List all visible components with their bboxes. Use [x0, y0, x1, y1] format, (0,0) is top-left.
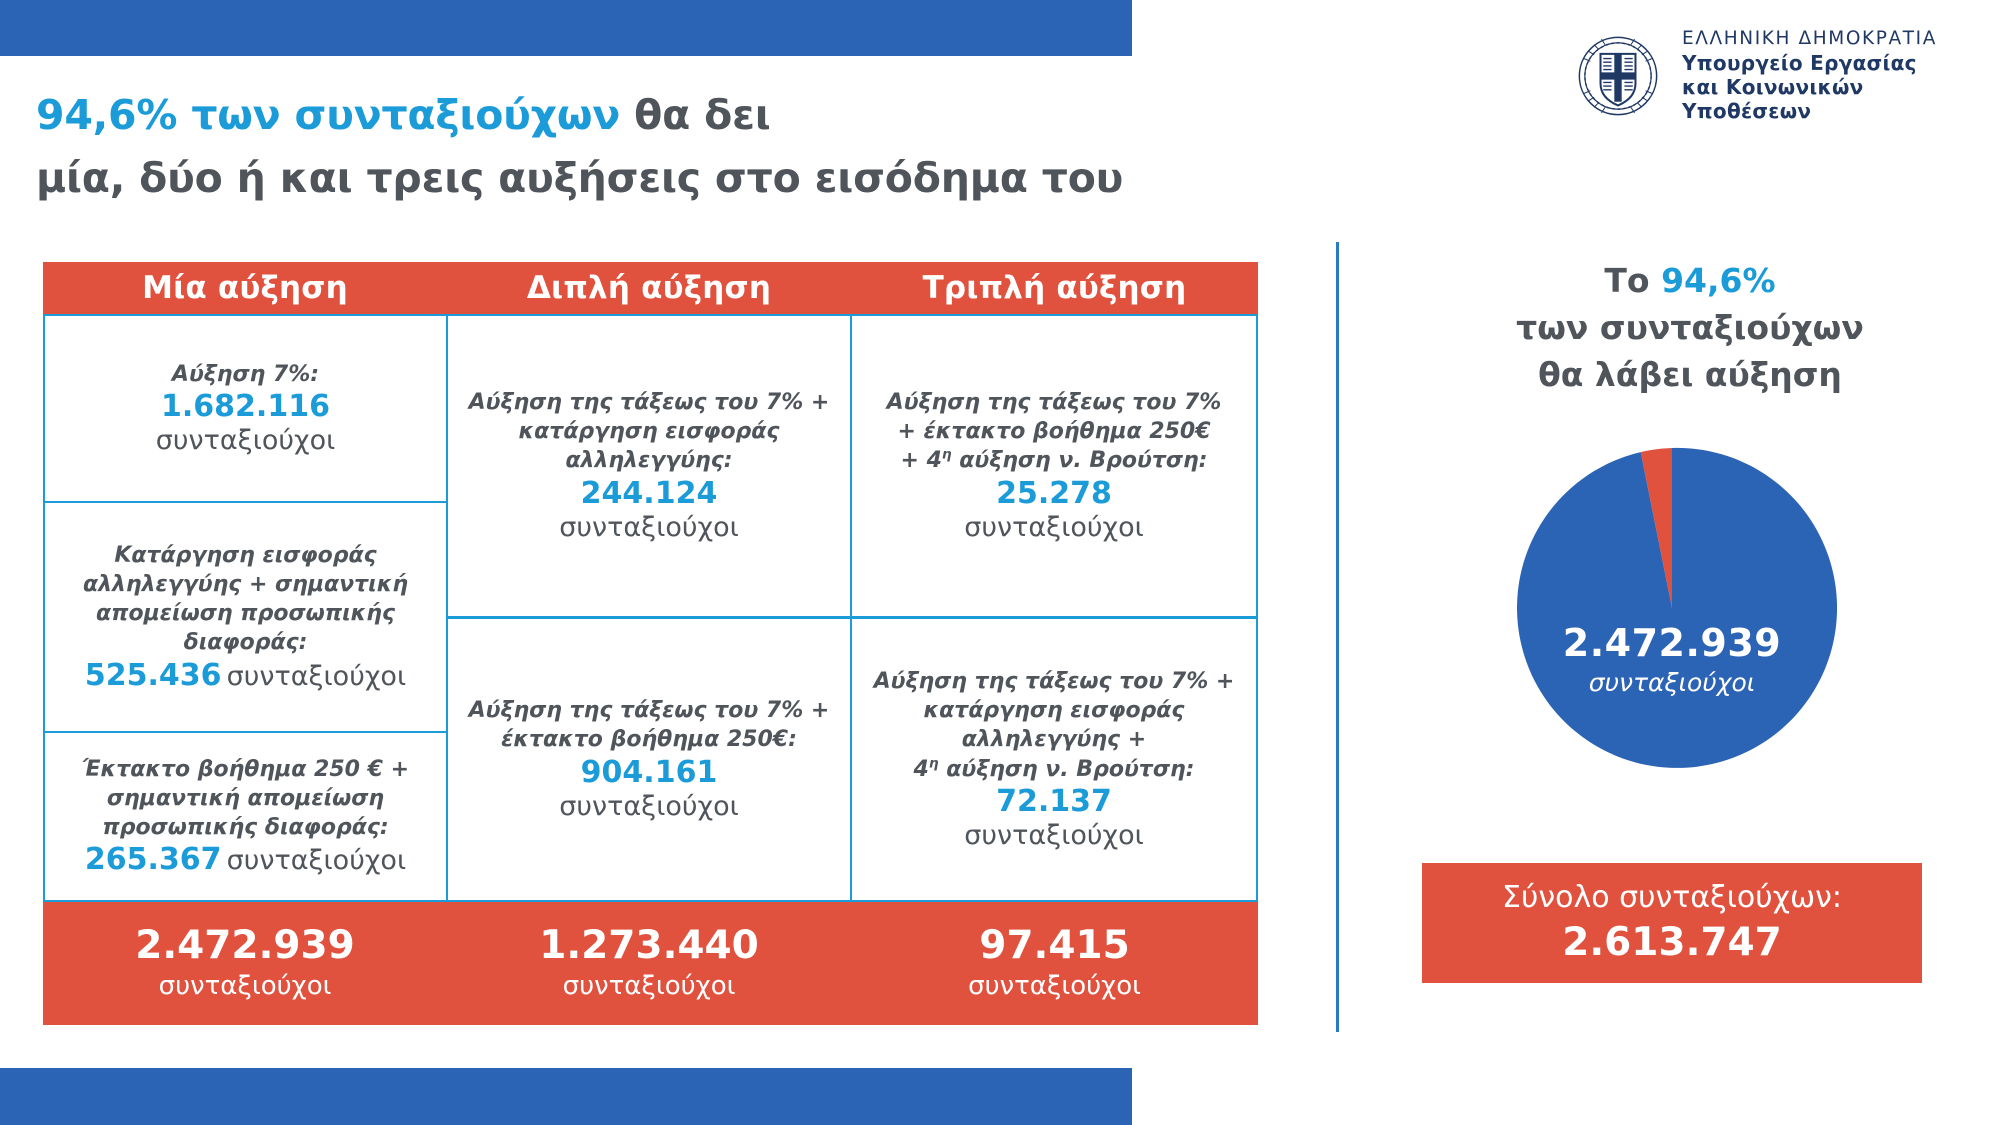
cell-value: 1.682.116 [161, 389, 330, 425]
cell-value: 25.278 [996, 476, 1112, 512]
table-footer-row: 2.472.939 συνταξιούχοι 1.273.440 συνταξι… [43, 902, 1258, 1025]
table-cell: Αύξηση 7%: 1.682.116 συνταξιούχοι [45, 316, 446, 501]
cell-description: Έκτακτο βοήθημα 250 € + σημαντική απομεί… [63, 755, 428, 843]
table-footer-cell: 2.472.939 συνταξιούχοι [43, 902, 447, 1025]
table-body: Αύξηση 7%: 1.682.116 συνταξιούχοι Κατάργ… [43, 314, 1258, 902]
vertical-divider [1336, 242, 1339, 1032]
greek-coat-of-arms-icon [1572, 30, 1664, 122]
total-value: 2.613.747 [1562, 920, 1782, 967]
table-footer-cell: 97.415 συνταξιούχοι [851, 902, 1258, 1025]
headline-rest: θα δει [620, 91, 770, 139]
cell-value: 72.137 [996, 784, 1112, 820]
ministry-logo: ΕΛΛΗΝΙΚΗ ΔΗΜΟΚΡΑΤΙΑ Υπουργείο Εργασίας κ… [1572, 28, 2000, 124]
cell-unit: συνταξιούχοι [964, 820, 1143, 852]
table-column-single: Αύξηση 7%: 1.682.116 συνταξιούχοι Κατάργ… [43, 314, 447, 902]
cell-value: 265.367 [85, 842, 222, 877]
logo-line-ministry-2: και Κοινωνικών Υποθέσεων [1682, 75, 1864, 123]
table-cell: Αύξηση της τάξεως του 7% + έκτακτο βοήθη… [852, 316, 1256, 616]
table-header-double: Διπλή αύξηση [447, 262, 851, 314]
cell-value: 904.161 [581, 755, 718, 791]
right-title-line-2: των συνταξιούχων [1516, 308, 1864, 347]
footer-unit: συνταξιούχοι [968, 971, 1141, 1002]
total-pensioners-box: Σύνολο συνταξιούχων: 2.613.747 [1422, 863, 1922, 983]
ordinal-suffix: η [929, 755, 939, 771]
footer-unit: συνταξιούχοι [563, 971, 736, 1002]
footer-value: 1.273.440 [539, 924, 759, 969]
cell-description: Αύξηση της τάξεως του 7% + κατάργηση εισ… [466, 388, 832, 476]
decorative-bar-top [0, 0, 1132, 56]
total-label: Σύνολο συνταξιούχων: [1502, 880, 1842, 916]
table-column-triple: Αύξηση της τάξεως του 7% + έκτακτο βοήθη… [851, 314, 1258, 902]
table-cell: Αύξηση της τάξεως του 7% + έκτακτο βοήθη… [448, 616, 850, 900]
table-column-double: Αύξηση της τάξεως του 7% + κατάργηση εισ… [447, 314, 851, 902]
cell-description: Κατάργηση εισφοράς αλληλεγγύης + σημαντι… [63, 541, 428, 658]
logo-line-republic: ΕΛΛΗΝΙΚΗ ΔΗΜΟΚΡΑΤΙΑ [1682, 28, 1937, 49]
cell-value-line: 265.367 συνταξιούχοι [85, 842, 406, 878]
table-cell: Αύξηση της τάξεως του 7% + κατάργηση εισ… [448, 316, 850, 616]
right-panel-title: Το 94,6% των συνταξιούχων θα λάβει αύξησ… [1380, 258, 2000, 399]
table-header-row: Μία αύξηση Διπλή αύξηση Τριπλή αύξηση [43, 262, 1258, 314]
right-title-percent: 94,6% [1661, 261, 1776, 300]
ordinal-suffix: η [942, 447, 952, 463]
cell-value-line: 525.436 συνταξιούχοι [85, 658, 406, 694]
cell-description-line-1: Αύξηση της τάξεως του 7% [887, 390, 1222, 415]
table-header-single: Μία αύξηση [43, 262, 447, 314]
decorative-bar-bottom [0, 1068, 1132, 1125]
cell-unit: συνταξιούχοι [559, 512, 738, 544]
cell-unit: συνταξιούχοι [227, 661, 406, 692]
cell-description-line-3-post: αύξηση ν. Βρούτση: [939, 757, 1195, 782]
cell-value: 244.124 [581, 476, 718, 512]
headline-highlight: 94,6% των συνταξιούχων [36, 91, 620, 139]
cell-unit: συνταξιούχοι [227, 845, 406, 876]
right-title-pre: Το [1604, 261, 1661, 300]
cell-description-line-3-pre: + 4 [901, 448, 942, 473]
cell-description-line-2: + έκτακτο βοήθημα 250€ [897, 419, 1210, 444]
cell-description: Αύξηση της τάξεως του 7% + έκτακτο βοήθη… [887, 388, 1222, 476]
increases-table: Μία αύξηση Διπλή αύξηση Τριπλή αύξηση Αύ… [43, 262, 1258, 1025]
cell-description-line-1: Αύξηση της τάξεως του 7% + [874, 669, 1235, 694]
table-footer-cell: 1.273.440 συνταξιούχοι [447, 902, 851, 1025]
infographic-canvas: ΕΛΛΗΝΙΚΗ ΔΗΜΟΚΡΑΤΙΑ Υπουργείο Εργασίας κ… [0, 0, 2000, 1125]
table-cell: Κατάργηση εισφοράς αλληλεγγύης + σημαντι… [45, 501, 446, 733]
page-title: 94,6% των συνταξιούχων θα δει μία, δύο ή… [36, 88, 1216, 205]
cell-unit: συνταξιούχοι [964, 512, 1143, 544]
cell-description: Αύξηση της τάξεως του 7% + έκτακτο βοήθη… [466, 696, 832, 755]
cell-unit: συνταξιούχοι [559, 791, 738, 823]
footer-unit: συνταξιούχοι [159, 971, 332, 1002]
footer-value: 2.472.939 [135, 924, 355, 969]
table-cell: Έκτακτο βοήθημα 250 € + σημαντική απομεί… [45, 733, 446, 900]
pie-slice-blue [1517, 448, 1837, 768]
headline-line-2: μία, δύο ή και τρεις αυξήσεις στο εισόδη… [36, 151, 1216, 206]
cell-description-line-3-pre: 4 [914, 757, 929, 782]
pie-chart: 2.472.939 συνταξιούχοι [1507, 443, 1837, 773]
cell-description-line-3-post: αύξηση ν. Βρούτση: [952, 448, 1208, 473]
cell-value: 525.436 [85, 658, 222, 693]
logo-line-ministry-1: Υπουργείο Εργασίας [1682, 51, 1917, 75]
cell-unit: συνταξιούχοι [156, 425, 335, 457]
table-cell: Αύξηση της τάξεως του 7% + κατάργηση εισ… [852, 616, 1256, 900]
ministry-logo-text: ΕΛΛΗΝΙΚΗ ΔΗΜΟΚΡΑΤΙΑ Υπουργείο Εργασίας κ… [1682, 28, 2000, 124]
cell-description: Αύξηση της τάξεως του 7% + κατάργηση εισ… [870, 667, 1238, 784]
footer-value: 97.415 [979, 924, 1130, 969]
cell-description: Αύξηση 7%: [172, 360, 319, 389]
table-header-triple: Τριπλή αύξηση [851, 262, 1258, 314]
cell-description-line-2: κατάργηση εισφοράς αλληλεγγύης + [924, 698, 1185, 752]
right-title-line-3: θα λάβει αύξηση [1538, 355, 1842, 394]
